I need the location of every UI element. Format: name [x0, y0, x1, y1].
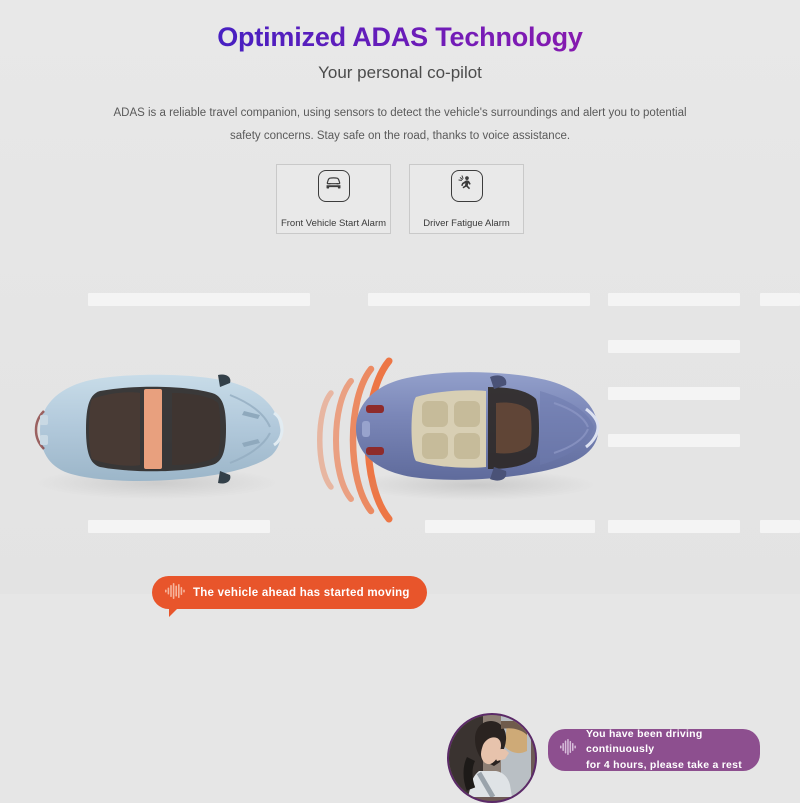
lead-vehicle — [22, 355, 292, 505]
page-background: Optimized ADAS Technology Your personal … — [0, 0, 800, 594]
road-scene: The vehicle ahead has started moving — [0, 270, 800, 594]
header: Optimized ADAS Technology Your personal … — [0, 0, 800, 148]
page-subtitle: Your personal co-pilot — [0, 63, 800, 83]
lane-marking — [760, 520, 800, 533]
feature-card-label: Front Vehicle Start Alarm — [281, 218, 386, 229]
tired-driver-photo — [447, 713, 537, 803]
lane-marking — [608, 387, 740, 400]
voice-waveform-icon — [165, 583, 185, 602]
lane-marking — [760, 293, 800, 306]
page-description: ADAS is a reliable travel companion, usi… — [110, 102, 690, 148]
front-vehicle-alert-text: The vehicle ahead has started moving — [193, 587, 410, 599]
front-vehicle-alert-bubble[interactable]: The vehicle ahead has started moving — [152, 576, 427, 609]
feature-card-driver-fatigue-alarm[interactable]: Driver Fatigue Alarm — [409, 164, 524, 234]
lane-marking — [608, 434, 740, 447]
lane-marking — [368, 293, 590, 306]
lane-marking — [608, 293, 740, 306]
voice-waveform-icon — [560, 739, 578, 760]
lane-marking — [88, 293, 310, 306]
car-front-icon — [324, 176, 343, 196]
fatigue-driver-icon — [457, 174, 476, 198]
lane-marking — [608, 340, 740, 353]
lane-marking — [608, 520, 740, 533]
card-icon-frame — [451, 170, 483, 202]
feature-card-front-vehicle-start-alarm[interactable]: Front Vehicle Start Alarm — [276, 164, 391, 234]
page-title: Optimized ADAS Technology — [0, 22, 800, 53]
lane-marking — [88, 520, 270, 533]
ego-vehicle — [340, 355, 610, 505]
fatigue-alert-text-line2: for 4 hours, please take a rest — [586, 758, 750, 773]
feature-card-label: Driver Fatigue Alarm — [423, 218, 510, 229]
feature-card-list: Front Vehicle Start Alarm Driver Fatigue… — [0, 164, 800, 234]
lane-marking — [425, 520, 595, 533]
card-icon-frame — [318, 170, 350, 202]
fatigue-alert-bubble[interactable]: You have been driving continuously for 4… — [548, 729, 760, 771]
fatigue-alert-text-line1: You have been driving continuously — [586, 727, 750, 757]
